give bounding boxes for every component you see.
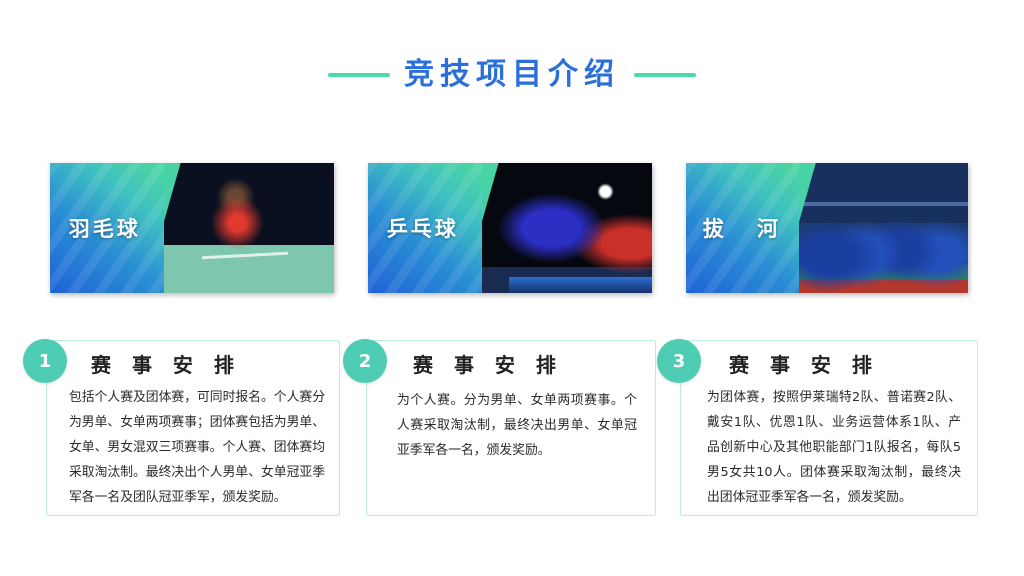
info-panel-table-tennis: 2 赛 事 安 排 为个人赛。分为男单、女单两项赛事。个人赛采取淘汰制，最终决出… [366, 340, 656, 516]
panel-number-badge: 2 [343, 339, 387, 383]
panel-number-badge: 3 [657, 339, 701, 383]
sport-card-label: 羽毛球 [50, 213, 164, 243]
sport-card-label-pane: 羽毛球 [50, 163, 164, 293]
sport-card-tug-of-war[interactable]: 拔 河 [686, 163, 968, 293]
sport-card-badminton[interactable]: 羽毛球 [50, 163, 334, 293]
title-dash-right [634, 73, 696, 77]
info-panel-tug-of-war: 3 赛 事 安 排 为团体赛，按照伊莱瑞特2队、普诺赛2队、戴安1队、优恩1队、… [680, 340, 978, 516]
info-panel-badminton: 1 赛 事 安 排 包括个人赛及团体赛，可同时报名。个人赛分为男单、女单两项赛事… [46, 340, 340, 516]
tug-of-war-team-photo [790, 163, 968, 293]
title-dash-left [328, 73, 390, 77]
sport-card-label: 乒乓球 [368, 213, 482, 243]
badminton-player-photo [155, 163, 334, 293]
sport-card-table-tennis[interactable]: 乒乓球 [368, 163, 652, 293]
panel-body-text: 包括个人赛及团体赛，可同时报名。个人赛分为男单、女单两项赛事；团体赛包括为男单、… [69, 386, 325, 511]
panel-body-text: 为个人赛。分为男单、女单两项赛事。个人赛采取淘汰制，最终决出男单、女单冠亚季军各… [397, 389, 637, 464]
page-title-row: 竞技项目介绍 [0, 60, 1024, 90]
sport-card-label: 拔 河 [686, 213, 799, 243]
panel-heading: 赛 事 安 排 [91, 349, 241, 378]
page-title: 竞技项目介绍 [404, 60, 620, 90]
panel-heading: 赛 事 安 排 [413, 349, 563, 378]
panel-number-badge: 1 [23, 339, 67, 383]
sport-card-label-pane: 乒乓球 [368, 163, 482, 293]
info-panels-row: 1 赛 事 安 排 包括个人赛及团体赛，可同时报名。个人赛分为男单、女单两项赛事… [0, 340, 1024, 516]
sport-cards-row: 羽毛球 乒乓球 拔 河 [0, 163, 1024, 293]
panel-body-text: 为团体赛，按照伊莱瑞特2队、普诺赛2队、戴安1队、优恩1队、业务运营体系1队、产… [707, 386, 961, 511]
table-tennis-players-photo [473, 163, 652, 293]
panel-heading: 赛 事 安 排 [729, 349, 879, 378]
sport-card-label-pane: 拔 河 [686, 163, 799, 293]
